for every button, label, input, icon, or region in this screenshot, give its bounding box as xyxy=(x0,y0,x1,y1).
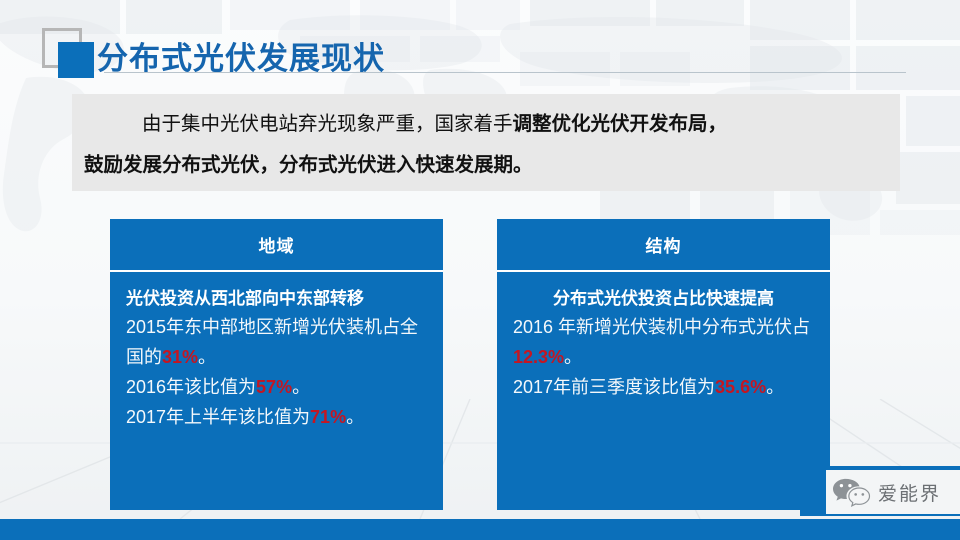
card-structure-line-2-post: 。 xyxy=(766,377,784,397)
card-region-line-3-value: 71% xyxy=(310,407,346,427)
intro-panel: 由于集中光伏电站弃光现象严重，国家着手调整优化光伏开发布局， 鼓励发展分布式光伏… xyxy=(72,94,900,191)
card-structure-header: 结构 xyxy=(497,219,830,270)
card-structure-body: 分布式光伏投资占比快速提高 2016 年新增光伏装机中分布式光伏占12.3%。 … xyxy=(497,272,830,510)
watermark-label: 爱能界 xyxy=(878,479,941,506)
card-structure-line-1-pre: 2016 年新增光伏装机中分布式光伏占 xyxy=(513,317,810,337)
card-region-line-2-pre: 2016年该比值为 xyxy=(126,377,256,397)
card-structure-lead: 分布式光伏投资占比快速提高 xyxy=(513,286,814,312)
card-region-line-3-post: 。 xyxy=(346,407,364,427)
intro-line-1-bold: 调整优化光伏开发布局， xyxy=(513,113,728,135)
title-divider xyxy=(104,72,906,73)
card-region-line-1-post: 。 xyxy=(198,347,216,367)
card-region-line-2: 2016年该比值为57%。 xyxy=(126,372,427,402)
card-structure-line-2-value: 35.6% xyxy=(715,377,766,397)
wechat-icon xyxy=(832,477,872,507)
card-region-line-1-value: 31% xyxy=(162,347,198,367)
card-structure-line-2: 2017年前三季度该比值为35.6%。 xyxy=(513,372,814,402)
card-structure-line-1: 2016 年新增光伏装机中分布式光伏占12.3%。 xyxy=(513,312,814,372)
card-structure-line-1-value: 12.3% xyxy=(513,347,564,367)
card-region-line-3: 2017年上半年该比值为71%。 xyxy=(126,402,427,432)
card-region-line-3-pre: 2017年上半年该比值为 xyxy=(126,407,310,427)
card-region-lead: 光伏投资从西北部向中东部转移 xyxy=(126,286,427,312)
bottom-accent-bar xyxy=(0,519,960,540)
intro-line-1: 由于集中光伏电站弃光现象严重，国家着手调整优化光伏开发布局， xyxy=(142,107,727,136)
slide-canvas: 分布式光伏发展现状 由于集中光伏电站弃光现象严重，国家着手调整优化光伏开发布局，… xyxy=(0,0,960,540)
card-region-header: 地域 xyxy=(110,219,443,270)
card-structure[interactable]: 结构 分布式光伏投资占比快速提高 2016 年新增光伏装机中分布式光伏占12.3… xyxy=(497,219,830,510)
square-filled-icon xyxy=(58,42,94,78)
watermark-badge: 爱能界 xyxy=(826,470,960,514)
intro-line-2-bold: 鼓励发展分布式光伏，分布式光伏进入快速发展期。 xyxy=(84,154,533,176)
card-structure-line-1-post: 。 xyxy=(564,347,582,367)
intro-line-2: 鼓励发展分布式光伏，分布式光伏进入快速发展期。 xyxy=(84,148,533,177)
card-region-body: 光伏投资从西北部向中东部转移 2015年东中部地区新增光伏装机占全国的31%。 … xyxy=(110,272,443,510)
card-structure-line-2-pre: 2017年前三季度该比值为 xyxy=(513,377,715,397)
card-region[interactable]: 地域 光伏投资从西北部向中东部转移 2015年东中部地区新增光伏装机占全国的31… xyxy=(110,219,443,510)
card-region-line-2-value: 57% xyxy=(256,377,292,397)
intro-line-1-plain: 由于集中光伏电站弃光现象严重，国家着手 xyxy=(142,113,513,135)
card-region-line-1: 2015年东中部地区新增光伏装机占全国的31%。 xyxy=(126,312,427,372)
card-region-line-2-post: 。 xyxy=(292,377,310,397)
